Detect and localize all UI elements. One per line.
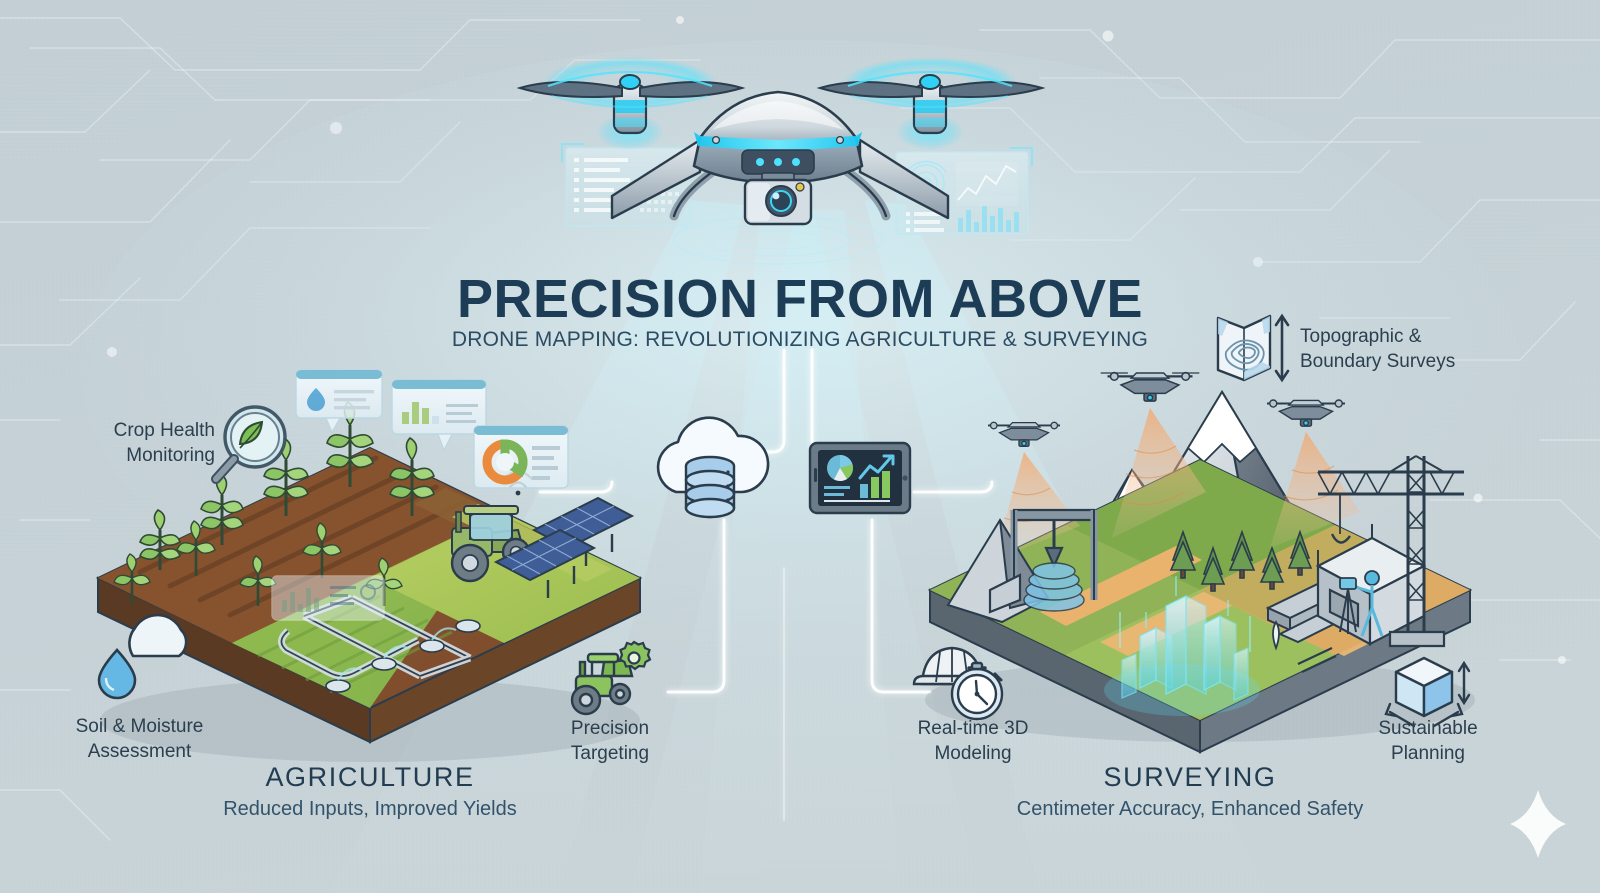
feature-label-sustainable: Sustainable Planning (1348, 716, 1508, 766)
section-title-agriculture: AGRICULTURE (180, 762, 560, 793)
section-title-surveying: SURVEYING (1000, 762, 1380, 793)
feature-label-realtime-3d: Real-time 3D Modeling (888, 716, 1058, 766)
tractor-gear-icon[interactable] (572, 642, 650, 714)
feature-label-precision-targeting: Precision Targeting (535, 716, 685, 766)
feature-label-soil-moisture-line1: Soil & Moisture (52, 714, 227, 739)
water-drop-cloud-icon[interactable] (99, 615, 186, 698)
feature-label-soil-moisture: Soil & Moisture Assessment (52, 714, 227, 764)
feature-label-sustainable-line1: Sustainable (1348, 716, 1508, 741)
feature-label-crop-health-line1: Crop Health (60, 418, 215, 443)
feature-label-precision-targeting-line1: Precision (535, 716, 685, 741)
feature-label-crop-health-line2: Monitoring (60, 443, 215, 468)
section-subtitle-agriculture: Reduced Inputs, Improved Yields (150, 798, 590, 821)
feature-label-topographic: Topographic & Boundary Surveys (1300, 324, 1500, 374)
feature-label-soil-moisture-line2: Assessment (52, 739, 227, 764)
feature-label-realtime-3d-line2: Modeling (888, 741, 1058, 766)
section-subtitle-surveying: Centimeter Accuracy, Enhanced Safety (960, 798, 1420, 821)
magnifier-leaf-icon[interactable] (216, 407, 285, 479)
feature-label-topographic-line2: Boundary Surveys (1300, 349, 1500, 374)
feature-label-sustainable-line2: Planning (1348, 741, 1508, 766)
feature-label-topographic-line1: Topographic & (1300, 324, 1500, 349)
hardhat-stopwatch-icon[interactable] (914, 648, 1002, 719)
feature-label-realtime-3d-line1: Real-time 3D (888, 716, 1058, 741)
sparkle-star-icon (1510, 790, 1566, 858)
infographic-canvas: PRECISION FROM ABOVE DRONE MAPPING: REVO… (0, 0, 1600, 893)
feature-label-precision-targeting-line2: Targeting (535, 741, 685, 766)
feature-label-crop-health: Crop Health Monitoring (60, 418, 215, 468)
page-title: PRECISION FROM ABOVE (0, 268, 1600, 330)
